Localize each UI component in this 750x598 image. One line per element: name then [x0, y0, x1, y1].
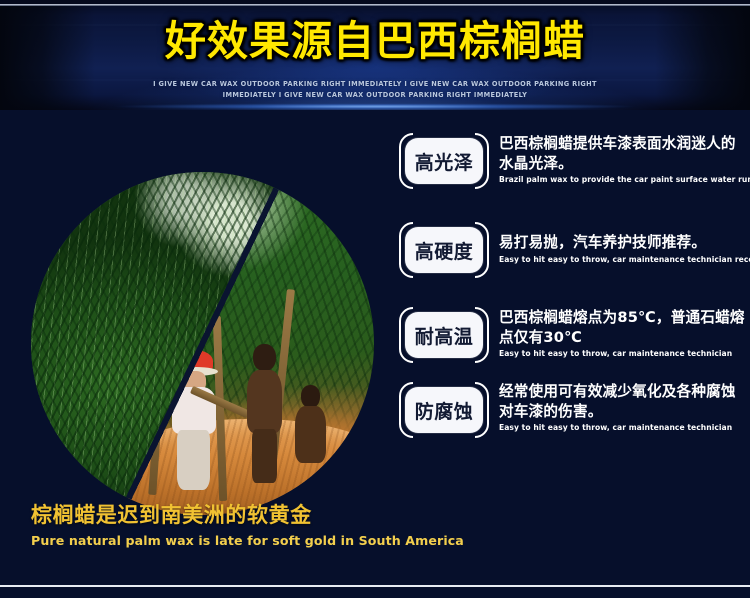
feature-badge-slot: 高硬度 [399, 222, 489, 278]
bottom-caption: 棕榈蜡是迟到南美洲的软黄金 Pure natural palm wax is l… [31, 502, 551, 550]
feature-text-en: Brazil palm wax to provide the car paint… [499, 174, 749, 185]
bottom-strip [0, 587, 750, 598]
feature-text-cn: 巴西棕榈蜡熔点为85℃，普通石蜡熔点仅有30℃ [499, 308, 749, 347]
hero-circle-image [31, 172, 374, 515]
feature-text-cn: 经常使用可有效减少氧化及各种腐蚀对车漆的伤害。 [499, 382, 749, 421]
feature-badge-slot: 耐高温 [399, 307, 489, 363]
feature-text-cn: 易打易抛，汽车养护技师推荐。 [499, 233, 749, 253]
legs [252, 429, 277, 484]
product-detail-page: 好效果源自巴西棕榈蜡 I GIVE NEW CAR WAX OUTDOOR PA… [0, 0, 750, 598]
legs [177, 430, 210, 490]
feature-badge-label: 防腐蚀 [405, 387, 483, 433]
torso [295, 406, 327, 464]
feature-text-cn: 巴西棕榈蜡提供车漆表面水润迷人的水晶光泽。 [499, 134, 749, 173]
caption-en: Pure natural palm wax is late for soft g… [31, 532, 551, 550]
feature-badge-label: 高硬度 [405, 227, 483, 273]
feature-badge-label: 耐高温 [405, 312, 483, 358]
feature-badge-label: 高光泽 [405, 138, 483, 184]
feature-badge-slot: 高光泽 [399, 133, 489, 189]
feature-text-en: Easy to hit easy to throw, car maintenan… [499, 422, 749, 433]
torso [247, 370, 282, 433]
banner-subtitle-line-1: I GIVE NEW CAR WAX OUTDOOR PARKING RIGHT… [0, 79, 750, 90]
banner-glow-strip [60, 104, 690, 109]
feature-text-en: Easy to hit easy to throw, car maintenan… [499, 348, 749, 359]
banner-subtitle: I GIVE NEW CAR WAX OUTDOOR PARKING RIGHT… [0, 79, 750, 101]
feature-text-en: Easy to hit easy to throw, car maintenan… [499, 254, 749, 265]
header-banner: 好效果源自巴西棕榈蜡 I GIVE NEW CAR WAX OUTDOOR PA… [0, 0, 750, 110]
feature-text: 易打易抛，汽车养护技师推荐。 Easy to hit easy to throw… [499, 233, 749, 265]
feature-text: 巴西棕榈蜡提供车漆表面水润迷人的水晶光泽。 Brazil palm wax to… [499, 134, 749, 185]
feature-badge-slot: 防腐蚀 [399, 382, 489, 438]
top-hairline-divider [0, 4, 750, 6]
caption-cn: 棕榈蜡是迟到南美洲的软黄金 [31, 502, 551, 529]
feature-text: 经常使用可有效减少氧化及各种腐蚀对车漆的伤害。 Easy to hit easy… [499, 382, 749, 433]
page-title: 好效果源自巴西棕榈蜡 [0, 18, 750, 64]
villager-standing [244, 344, 285, 481]
feature-text: 巴西棕榈蜡熔点为85℃，普通石蜡熔点仅有30℃ Easy to hit easy… [499, 308, 749, 359]
banner-subtitle-line-2: IMMEDIATELY I GIVE NEW CAR WAX OUTDOOR P… [0, 90, 750, 101]
head [253, 344, 276, 371]
villager-crouching [292, 385, 330, 481]
head [301, 385, 321, 408]
